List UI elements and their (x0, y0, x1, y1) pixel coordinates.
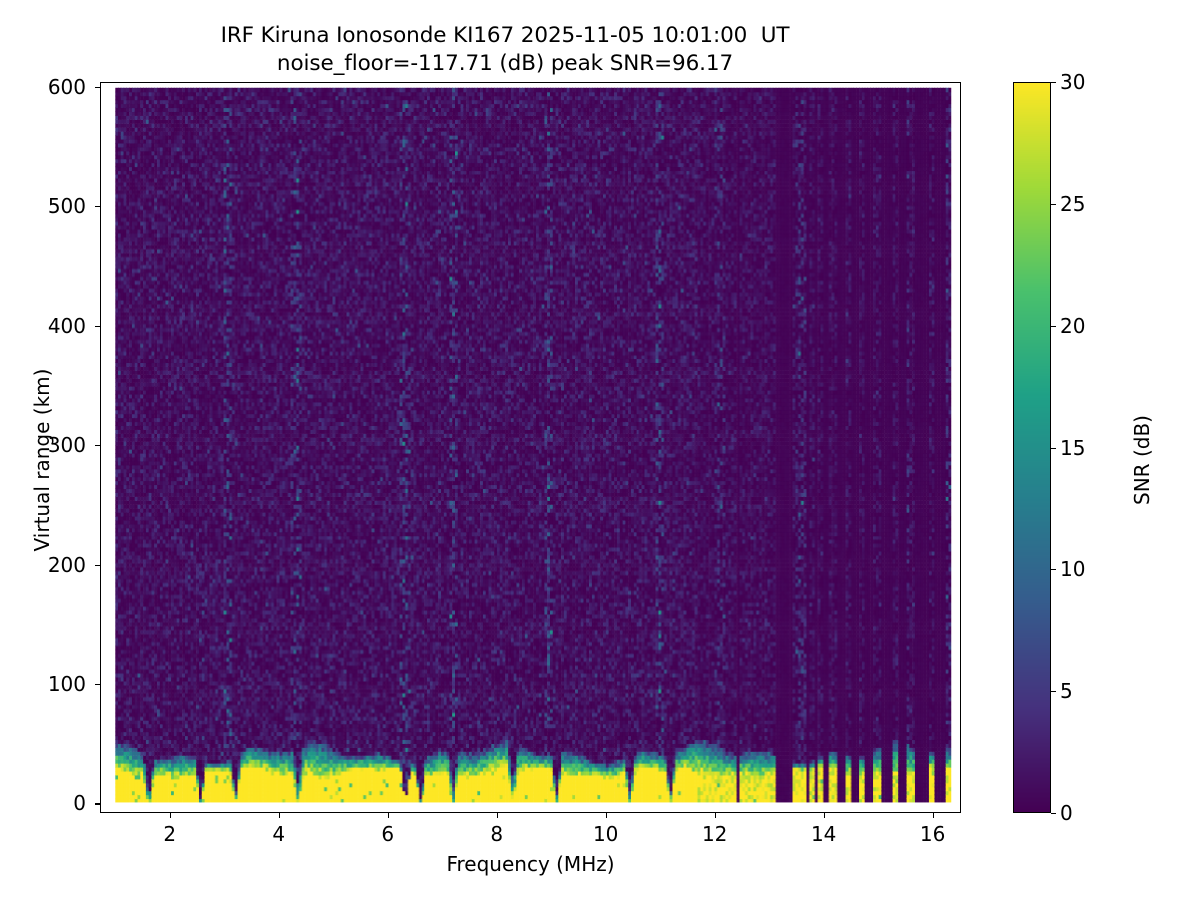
title-line-2: noise_floor=-117.71 (dB) peak SNR=96.17 (0, 50, 1010, 78)
y-tick-mark (95, 684, 100, 685)
ionogram-figure: IRF Kiruna Ionosonde KI167 2025-11-05 10… (0, 0, 1200, 900)
colorbar-gradient (1014, 83, 1050, 812)
y-tick-label: 200 (6, 553, 86, 577)
title-line-1: IRF Kiruna Ionosonde KI167 2025-11-05 10… (0, 22, 1010, 50)
colorbar-tick-mark (1051, 448, 1056, 449)
ionogram-heatmap-canvas (101, 83, 960, 812)
x-tick-label: 2 (135, 822, 205, 846)
x-tick-label: 4 (244, 822, 314, 846)
colorbar-tick-mark (1051, 82, 1056, 83)
colorbar[interactable] (1013, 82, 1051, 813)
y-tick-mark (95, 206, 100, 207)
x-tick-label: 8 (462, 822, 532, 846)
y-tick-label: 300 (6, 433, 86, 457)
y-tick-mark (95, 87, 100, 88)
y-tick-mark (95, 326, 100, 327)
x-tick-mark (824, 813, 825, 818)
colorbar-tick-label: 0 (1060, 801, 1073, 825)
colorbar-tick-label: 5 (1060, 679, 1073, 703)
colorbar-tick-label: 30 (1060, 70, 1085, 94)
x-tick-mark (279, 813, 280, 818)
x-tick-mark (606, 813, 607, 818)
x-tick-label: 14 (789, 822, 859, 846)
y-tick-label: 100 (6, 672, 86, 696)
ionogram-plot-area[interactable] (100, 82, 961, 813)
colorbar-tick-mark (1051, 813, 1056, 814)
x-tick-mark (715, 813, 716, 818)
y-tick-label: 600 (6, 75, 86, 99)
x-tick-label: 6 (353, 822, 423, 846)
figure-title: IRF Kiruna Ionosonde KI167 2025-11-05 10… (0, 22, 1010, 78)
colorbar-tick-mark (1051, 691, 1056, 692)
x-tick-mark (170, 813, 171, 818)
x-tick-mark (388, 813, 389, 818)
y-tick-mark (95, 803, 100, 804)
colorbar-tick-mark (1051, 326, 1056, 327)
y-tick-label: 0 (6, 791, 86, 815)
x-tick-label: 12 (680, 822, 750, 846)
y-tick-label: 500 (6, 194, 86, 218)
colorbar-tick-mark (1051, 569, 1056, 570)
colorbar-tick-label: 25 (1060, 192, 1085, 216)
colorbar-label: SNR (dB) (1130, 295, 1154, 625)
y-tick-label: 400 (6, 314, 86, 338)
x-axis-label: Frequency (MHz) (100, 852, 961, 876)
y-tick-mark (95, 445, 100, 446)
x-tick-mark (933, 813, 934, 818)
colorbar-tick-label: 15 (1060, 436, 1085, 460)
x-tick-label: 10 (571, 822, 641, 846)
colorbar-tick-label: 20 (1060, 314, 1085, 338)
x-tick-label: 16 (898, 822, 968, 846)
y-tick-mark (95, 565, 100, 566)
x-tick-mark (497, 813, 498, 818)
colorbar-tick-label: 10 (1060, 557, 1085, 581)
colorbar-tick-mark (1051, 204, 1056, 205)
